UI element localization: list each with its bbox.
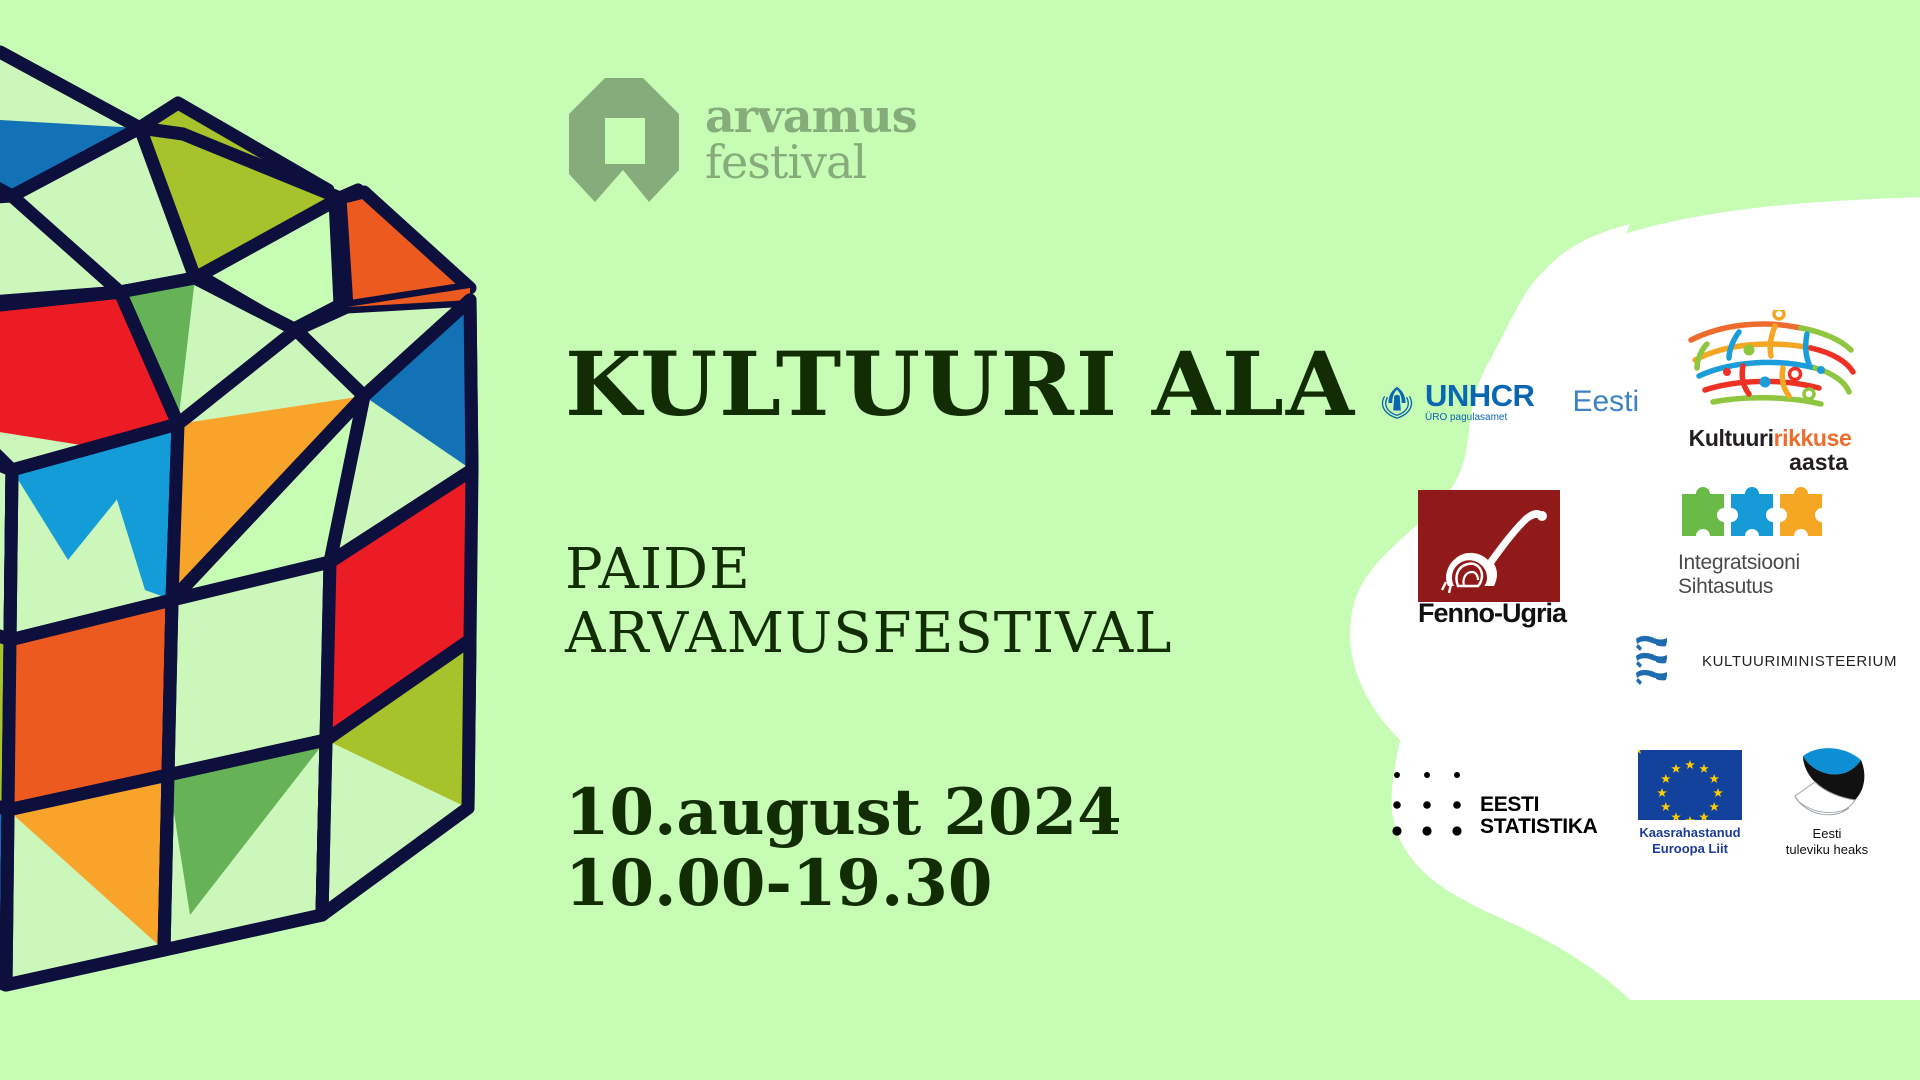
european-union-flag-icon [1638,750,1742,820]
puzzle-pieces-icon [1678,480,1838,546]
kultuuririkkuse-wordmark: Kultuuririkkuse [1670,426,1870,450]
statistika-line-2: STATISTIKA [1480,816,1598,839]
partner-logo-fenno-ugria: Fenno-Ugria [1418,490,1578,629]
partner-logo-euroopa-liit: Kaasrahastanud Euroopa Liit [1630,750,1750,856]
event-time: 10.00-19.30 [565,848,1325,920]
estonian-coat-of-arms-icon [1630,633,1674,689]
rubiks-cube-illustration [0,0,500,1080]
euroopa-liit-caption: Kaasrahastanud Euroopa Liit [1630,825,1750,856]
partner-logo-eesti-statistika: EESTI STATISTIKA [1388,765,1618,841]
integratsiooni-line-2: Sihtasutus [1678,575,1863,599]
partner-logo-kultuuririkkuse-aasta: Kultuuririkkuse aasta [1670,310,1870,474]
eu-line-2: Euroopa Liit [1630,841,1750,857]
arvamus-festival-logomark-icon [565,74,683,206]
event-date: 10.august 2024 [565,777,1325,849]
ee-line-2: tuleviku heaks [1762,842,1892,858]
event-datetime: 10.august 2024 10.00-19.30 [565,777,1325,920]
main-content: arvamus festival KULTUURI ALA PAIDE ARVA… [565,70,1325,920]
partner-logo-integratsiooni-sihtasutus: Integratsiooni Sihtasutus [1678,480,1863,598]
eesti-statistika-wordmark: EESTI STATISTIKA [1480,794,1598,841]
page-title: KULTUURI ALA [565,340,1325,428]
unhcr-emblem-icon [1378,383,1416,421]
eesti-tuleviku-caption: Eesti tuleviku heaks [1762,826,1892,857]
fenno-ugria-mark-icon [1418,490,1560,602]
kultuuririkkuse-word-1: Kultuuri [1689,425,1774,451]
subtitle-line-2: ARVAMUSFESTIVAL [565,602,1325,666]
statistika-line-1: EESTI [1480,794,1598,817]
eu-line-1: Kaasrahastanud [1630,825,1750,841]
integratsiooni-line-1: Integratsiooni [1678,551,1863,575]
statistics-dot-grid-icon [1388,765,1470,841]
ee-line-1: Eesti [1762,826,1892,842]
partner-logos-panel: UNHCR ÜRO pagulasamet Eesti [1300,180,1920,1000]
estonian-flag-swoosh-icon [1779,742,1875,824]
unhcr-country-label: Eesti [1572,387,1639,417]
subtitle-line-1: PAIDE [565,538,1325,602]
integratsiooni-name: Integratsiooni Sihtasutus [1678,551,1863,598]
event-location: PAIDE ARVAMUSFESTIVAL [565,538,1325,667]
kultuuririkkuse-word-2: rikkuse [1774,425,1852,451]
partner-logo-unhcr-eesti: UNHCR ÜRO pagulasamet Eesti [1378,380,1628,423]
fenno-ugria-wordmark: Fenno-Ugria [1418,598,1578,629]
brand-line-2: festival [705,141,917,185]
kultuuririkkuse-mark-icon [1683,310,1858,420]
kultuuriministeerium-wordmark: KULTUURIMINISTEERIUM [1702,653,1897,670]
unhcr-wordmark: UNHCR [1425,380,1534,411]
partner-logo-eesti-tuleviku-heaks: Eesti tuleviku heaks [1762,742,1892,857]
kultuuririkkuse-word-3: aasta [1670,450,1870,474]
brand-line-1: arvamus [705,95,917,139]
arvamus-festival-logo: arvamus festival [565,70,1325,210]
partner-logo-kultuuriministeerium: KULTUURIMINISTEERIUM [1630,630,1890,692]
poster-canvas: arvamus festival KULTUURI ALA PAIDE ARVA… [0,0,1920,1080]
unhcr-subtitle: ÜRO pagulasamet [1425,412,1534,423]
